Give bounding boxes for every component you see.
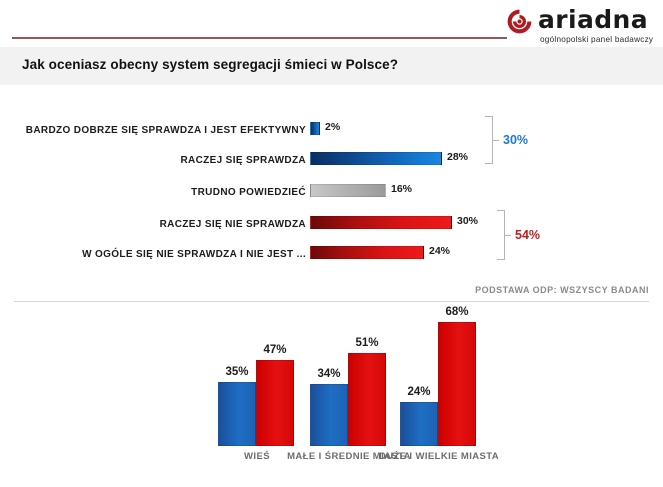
column-value-label: 47% [263, 344, 286, 356]
column-blue: 24% [400, 402, 438, 446]
bracket-positive [485, 116, 493, 164]
bar-category-label: RACZEJ SIĘ SPRAWDZA [180, 155, 306, 166]
ariadna-spiral-icon [506, 8, 533, 35]
column-value-label: 68% [445, 306, 468, 318]
header-rule [12, 37, 507, 39]
bracket-value-positive: 30% [503, 133, 528, 147]
chart-row: RACZEJ SIĘ SPRAWDZA 28% [0, 148, 663, 178]
column-group: 24% 68% DUŻE I WIELKIE MIASTA [400, 312, 478, 446]
bracket-tick [505, 235, 511, 236]
page-title: Jak oceniasz obecny system segregacji śm… [22, 57, 398, 72]
column-blue: 35% [218, 382, 256, 446]
column-red: 51% [348, 353, 386, 446]
chart-row: RACZEJ SIĘ NIE SPRAWDZA 30% [0, 212, 663, 242]
title-band: Jak oceniasz obecny system segregacji śm… [0, 47, 663, 85]
bar-red [310, 246, 424, 259]
column-red: 68% [438, 322, 476, 446]
bar-category-label: W OGÓLE SIĘ NIE SPRAWDZA I NIE JEST ... [82, 249, 306, 260]
bar-value-label: 28% [447, 151, 468, 163]
bar-red [310, 216, 452, 229]
brand-tagline: ogólnopolski panel badawczy [540, 35, 653, 44]
page-header: ariadna ogólnopolski panel badawczy [0, 0, 663, 44]
bar-value-label: 30% [457, 215, 478, 227]
chart-row: W OGÓLE SIĘ NIE SPRAWDZA I NIE JEST ... … [0, 242, 663, 272]
column-value-label: 35% [225, 366, 248, 378]
section-divider [14, 301, 649, 302]
bar-value-label: 16% [391, 183, 412, 195]
bracket-negative [497, 210, 505, 260]
brand-name: ariadna [538, 6, 648, 34]
bar-blue [310, 152, 442, 165]
vertical-bar-chart: 35% 47% WIEŚ 34% 51% MAŁE I ŚREDNIE MIAS… [0, 312, 663, 487]
bar-gray [310, 184, 386, 197]
bar-value-label: 2% [325, 121, 340, 133]
bar-value-label: 24% [429, 245, 450, 257]
horizontal-bar-chart: BARDZO DOBRZE SIĘ SPRAWDZA I JEST EFEKTY… [0, 108, 663, 268]
bar-category-label: BARDZO DOBRZE SIĘ SPRAWDZA I JEST EFEKTY… [26, 125, 306, 136]
bracket-value-negative: 54% [515, 228, 540, 242]
column-value-label: 34% [317, 368, 340, 380]
column-value-label: 24% [407, 386, 430, 398]
chart-row: BARDZO DOBRZE SIĘ SPRAWDZA I JEST EFEKTY… [0, 118, 663, 148]
column-value-label: 51% [355, 337, 378, 349]
bracket-tick [493, 140, 499, 141]
column-group: 34% 51% MAŁE I ŚREDNIE MIASTA [310, 312, 388, 446]
column-category-label: DUŻE I WIELKIE MIASTA [372, 450, 507, 463]
chart-row: TRUDNO POWIEDZIEĆ 16% [0, 180, 663, 210]
column-group: 35% 47% WIEŚ [218, 312, 296, 446]
bar-category-label: TRUDNO POWIEDZIEĆ [191, 187, 306, 198]
brand-logo: ariadna ogólnopolski panel badawczy [506, 6, 658, 46]
column-red: 47% [256, 360, 294, 446]
bar-category-label: RACZEJ SIĘ NIE SPRAWDZA [160, 219, 306, 230]
column-blue: 34% [310, 384, 348, 446]
bar-blue [310, 122, 320, 135]
source-note: PODSTAWA ODP: WSZYSCY BADANI [475, 285, 649, 295]
